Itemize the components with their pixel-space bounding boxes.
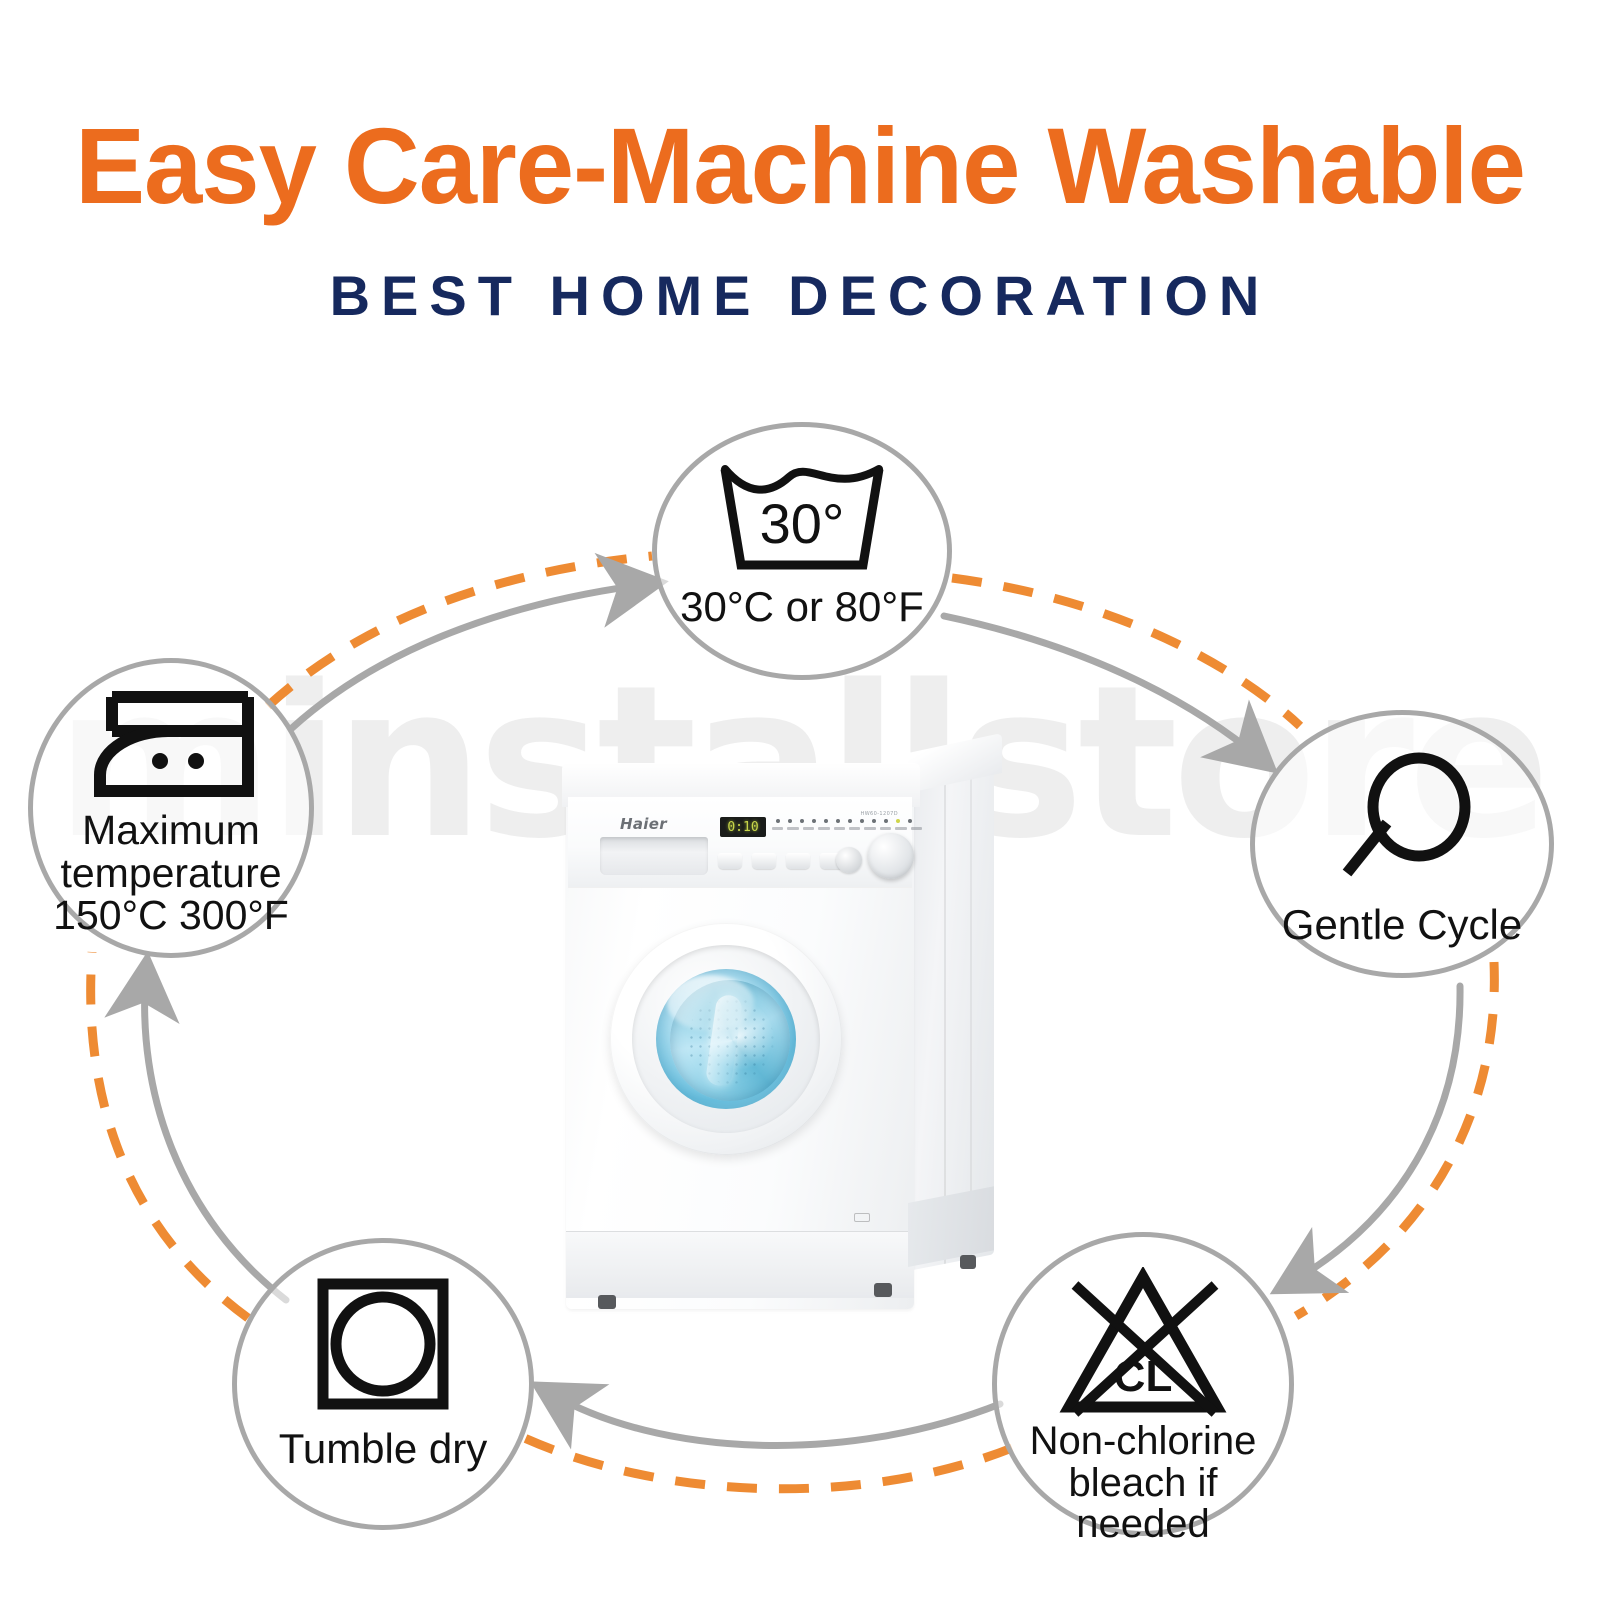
care-node-wash-temperature[interactable]: 30° 30°C or 80°F bbox=[652, 422, 952, 680]
washer-push-button[interactable] bbox=[786, 853, 810, 869]
washer-glass-highlight bbox=[667, 975, 754, 1031]
gentle-cycle-icon bbox=[1327, 751, 1477, 891]
washer-led-display: 0:10 bbox=[720, 817, 766, 837]
care-node-label: Maximum temperature 150°C 300°F bbox=[53, 809, 289, 937]
no-chlorine-bleach-icon: CL bbox=[1057, 1267, 1229, 1419]
washer-button-row[interactable] bbox=[718, 853, 844, 869]
program-label bbox=[864, 827, 875, 830]
washer-filter-hatch[interactable] bbox=[854, 1213, 870, 1222]
detergent-drawer[interactable] bbox=[600, 837, 708, 875]
infographic-page: Easy Care-Machine Washable BEST HOME DEC… bbox=[0, 0, 1600, 1600]
program-label bbox=[911, 827, 922, 830]
led-indicator bbox=[800, 819, 804, 823]
washer-push-button[interactable] bbox=[718, 853, 742, 869]
led-indicator bbox=[824, 819, 828, 823]
program-label bbox=[880, 827, 891, 830]
washer-door[interactable] bbox=[610, 923, 842, 1155]
washer-push-button[interactable] bbox=[752, 853, 776, 869]
led-indicator bbox=[884, 819, 888, 823]
program-label bbox=[834, 827, 845, 830]
washer-foot bbox=[960, 1255, 976, 1269]
svg-text:30°: 30° bbox=[760, 492, 845, 555]
washer-display-value: 0:10 bbox=[727, 820, 758, 835]
led-indicator bbox=[848, 819, 852, 823]
led-indicator bbox=[860, 819, 864, 823]
program-label bbox=[849, 827, 860, 830]
care-node-iron-temperature[interactable]: Maximum temperature 150°C 300°F bbox=[28, 658, 314, 958]
care-node-label: Tumble dry bbox=[279, 1427, 488, 1471]
led-indicator bbox=[812, 819, 816, 823]
program-label bbox=[895, 827, 906, 830]
iron-two-dots-icon bbox=[82, 691, 260, 803]
program-label bbox=[803, 827, 814, 830]
page-subtitle: BEST HOME DECORATION bbox=[0, 268, 1600, 324]
care-node-label: 30°C or 80°F bbox=[680, 585, 924, 629]
washer-temperature-knob[interactable] bbox=[836, 847, 862, 873]
washer-base-plinth bbox=[566, 1231, 914, 1298]
wash-tub-30-icon: 30° bbox=[711, 455, 893, 579]
washing-machine-product-image: Haier HW60-1207D 0:10 bbox=[548, 735, 1018, 1335]
led-indicator bbox=[908, 819, 912, 823]
washer-door-ring bbox=[632, 945, 820, 1133]
led-indicator-active bbox=[896, 819, 900, 823]
led-indicator bbox=[836, 819, 840, 823]
care-node-tumble-dry[interactable]: Tumble dry bbox=[232, 1238, 534, 1530]
care-node-non-chlorine-bleach[interactable]: CL Non-chlorine bleach if needed bbox=[992, 1232, 1294, 1536]
program-indicator-leds bbox=[776, 819, 912, 823]
washer-foot bbox=[874, 1283, 892, 1297]
washer-control-panel: Haier HW60-1207D 0:10 bbox=[568, 797, 912, 888]
tumble-dry-icon bbox=[316, 1277, 450, 1411]
care-node-label: Non-chlorine bleach if needed bbox=[1030, 1421, 1257, 1546]
care-node-label: Gentle Cycle bbox=[1282, 903, 1522, 947]
care-node-gentle-cycle[interactable]: Gentle Cycle bbox=[1250, 710, 1554, 978]
washer-program-selector-knob[interactable] bbox=[868, 833, 914, 879]
led-indicator bbox=[776, 819, 780, 823]
washer-model-code: HW60-1207D bbox=[861, 811, 898, 817]
program-label bbox=[772, 827, 783, 830]
program-label bbox=[787, 827, 798, 830]
washer-foot bbox=[598, 1295, 616, 1309]
program-label bbox=[818, 827, 829, 830]
led-indicator bbox=[872, 819, 876, 823]
page-title: Easy Care-Machine Washable bbox=[24, 112, 1576, 220]
washer-brand-logo: Haier bbox=[620, 815, 667, 833]
washer-door-glass bbox=[656, 969, 796, 1109]
led-indicator bbox=[788, 819, 792, 823]
